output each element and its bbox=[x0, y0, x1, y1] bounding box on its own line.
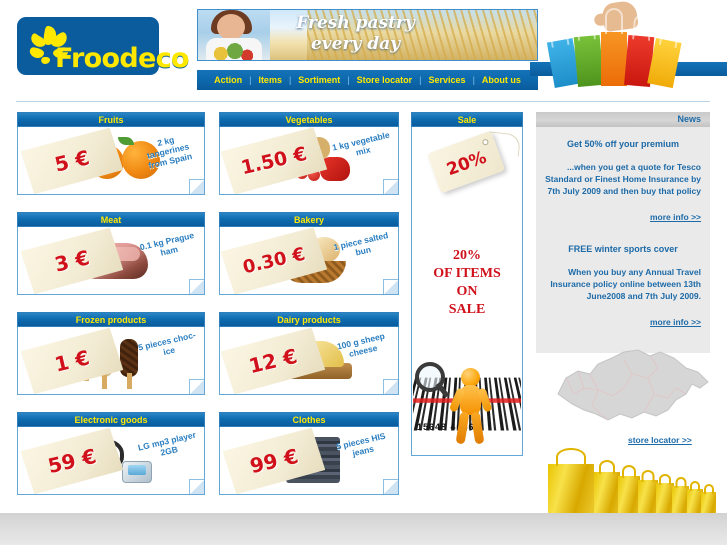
card-corner-fold bbox=[189, 379, 204, 394]
product-description: 0.1 kg Prague ham bbox=[136, 229, 201, 262]
product-card-body: 1 € 5 pieces choc-ice bbox=[17, 327, 205, 395]
product-description: 5 pieces HIS jeans bbox=[330, 429, 395, 462]
product-card-body: 99 € 5 pieces HIS jeans bbox=[219, 427, 399, 495]
news-headline: FREE winter sports cover bbox=[545, 243, 701, 255]
card-corner-fold bbox=[383, 279, 398, 294]
nav-item-store-locator[interactable]: Store locator bbox=[350, 75, 420, 85]
news-headline: Get 50% off your premium bbox=[545, 138, 701, 150]
map-icon bbox=[540, 338, 725, 438]
news-more-wrapper: more info >> bbox=[545, 312, 701, 330]
product-description: 1 kg vegetable mix bbox=[330, 129, 395, 162]
sale-panel[interactable]: Sale 20% 20% OF ITEMS ON SALE 15648 4646… bbox=[411, 112, 523, 457]
orange-figure-icon bbox=[453, 368, 489, 448]
sale-message-line-2: OF ITEMS bbox=[412, 265, 522, 283]
card-corner-fold bbox=[189, 179, 204, 194]
product-card-body: 0.30 € 1 piece salted bun bbox=[219, 227, 399, 295]
banner-text: Fresh pastry every day bbox=[248, 13, 463, 55]
news-more-link[interactable]: more info >> bbox=[650, 317, 701, 327]
product-card-title: Clothes bbox=[219, 412, 399, 427]
price-tag: 1 € bbox=[20, 327, 124, 395]
banner-line-2: every day bbox=[248, 34, 463, 55]
product-description: 5 pieces choc-ice bbox=[136, 329, 201, 362]
price-tag: 5 € bbox=[20, 127, 124, 195]
sale-message-line-1: 20% bbox=[412, 247, 522, 265]
product-card-frozen-products[interactable]: Frozen products 1 € 5 pieces choc-ice bbox=[17, 312, 205, 395]
product-card-title: Dairy products bbox=[219, 312, 399, 327]
product-description: LG mp3 player 2GB bbox=[136, 429, 201, 462]
page-root: Froodeco Fresh pastry every day Action |… bbox=[0, 0, 727, 545]
price-tag: 59 € bbox=[20, 427, 124, 495]
product-card-clothes[interactable]: Clothes 99 € 5 pieces HIS jeans bbox=[219, 412, 399, 495]
product-card-title: Vegetables bbox=[219, 112, 399, 127]
product-card-body: 59 € LG mp3 player 2GB bbox=[17, 427, 205, 495]
news-text: When you buy any Annual Travel Insurance… bbox=[545, 266, 701, 302]
product-card-vegetables[interactable]: Vegetables 1.50 € 1 kg vegetable mix bbox=[219, 112, 399, 195]
news-item: FREE winter sports cover When you buy an… bbox=[545, 243, 701, 330]
product-card-body: 1.50 € 1 kg vegetable mix bbox=[219, 127, 399, 195]
promo-banner[interactable]: Fresh pastry every day bbox=[197, 9, 538, 61]
product-description: 2 kg tangerines from Spain bbox=[134, 129, 201, 172]
price-tag: 1.50 € bbox=[220, 127, 328, 195]
header-divider bbox=[16, 101, 710, 102]
card-corner-fold bbox=[383, 179, 398, 194]
nav-item-services[interactable]: Services bbox=[422, 75, 473, 85]
product-card-title: Meat bbox=[17, 212, 205, 227]
product-card-meat[interactable]: Meat 3 € 0.1 kg Prague ham bbox=[17, 212, 205, 295]
sale-message-line-4: SALE bbox=[412, 301, 522, 319]
product-card-electronic-goods[interactable]: Electronic goods 59 € LG mp3 player 2GB bbox=[17, 412, 205, 495]
site-header: Froodeco Fresh pastry every day Action |… bbox=[0, 0, 727, 96]
price-tag: 0.30 € bbox=[220, 227, 328, 295]
news-more-wrapper: more info >> bbox=[545, 207, 701, 225]
card-corner-fold bbox=[383, 479, 398, 494]
product-description: 100 g sheep cheese bbox=[330, 329, 395, 362]
product-description: 1 piece salted bun bbox=[330, 229, 395, 262]
card-corner-fold bbox=[189, 279, 204, 294]
product-card-bakery[interactable]: Bakery 0.30 € 1 piece salted bun bbox=[219, 212, 399, 295]
card-corner-fold bbox=[189, 479, 204, 494]
product-card-body: 12 € 100 g sheep cheese bbox=[219, 327, 399, 395]
news-item: Get 50% off your premium ...when you get… bbox=[545, 138, 701, 225]
news-more-link[interactable]: more info >> bbox=[650, 212, 701, 222]
news-body: Get 50% off your premium ...when you get… bbox=[536, 127, 710, 353]
product-card-dairy-products[interactable]: Dairy products 12 € 100 g sheep cheese bbox=[219, 312, 399, 395]
magnifier-icon bbox=[415, 362, 445, 392]
nav-item-items[interactable]: Items bbox=[251, 75, 289, 85]
product-card-body: 5 € 2 kg tangerines from Spain bbox=[17, 127, 205, 195]
price-tag: 12 € bbox=[220, 327, 326, 395]
product-card-body: 3 € 0.1 kg Prague ham bbox=[17, 227, 205, 295]
nav-item-about-us[interactable]: About us bbox=[475, 75, 528, 85]
site-logo[interactable]: Froodeco bbox=[17, 17, 159, 75]
barcode-illustration: 15648 46464 bbox=[413, 354, 521, 454]
news-title: News bbox=[536, 112, 710, 127]
sale-tag-value: 20% bbox=[431, 143, 502, 185]
product-card-title: Frozen products bbox=[17, 312, 205, 327]
shopping-bags-hero-image bbox=[545, 2, 695, 94]
logo-wordmark: Froodeco bbox=[55, 43, 189, 74]
price-tag: 3 € bbox=[20, 227, 124, 295]
banner-line-1: Fresh pastry bbox=[248, 13, 463, 34]
footer-band bbox=[0, 513, 727, 545]
card-corner-fold bbox=[383, 379, 398, 394]
product-card-title: Bakery bbox=[219, 212, 399, 227]
product-card-title: Fruits bbox=[17, 112, 205, 127]
news-panel: News Get 50% off your premium ...when yo… bbox=[536, 112, 710, 353]
main-navigation[interactable]: Action | Items | Sortiment | Store locat… bbox=[197, 70, 538, 90]
sale-title: Sale bbox=[411, 112, 523, 127]
product-card-title: Electronic goods bbox=[17, 412, 205, 427]
nav-item-sortiment[interactable]: Sortiment bbox=[291, 75, 347, 85]
news-text: ...when you get a quote for Tesco Standa… bbox=[545, 161, 701, 197]
sale-message: 20% OF ITEMS ON SALE bbox=[412, 247, 522, 319]
switzerland-map[interactable] bbox=[540, 338, 725, 438]
product-card-fruits[interactable]: Fruits 5 € 2 kg tangerines from Spain bbox=[17, 112, 205, 195]
sale-tag: 20% bbox=[427, 131, 505, 194]
sale-message-line-3: ON bbox=[412, 283, 522, 301]
sale-body: 20% 20% OF ITEMS ON SALE 15648 46464 bbox=[411, 127, 523, 456]
price-tag: 99 € bbox=[222, 427, 326, 495]
price-value: 59 € bbox=[23, 439, 122, 484]
nav-item-action[interactable]: Action bbox=[207, 75, 249, 85]
